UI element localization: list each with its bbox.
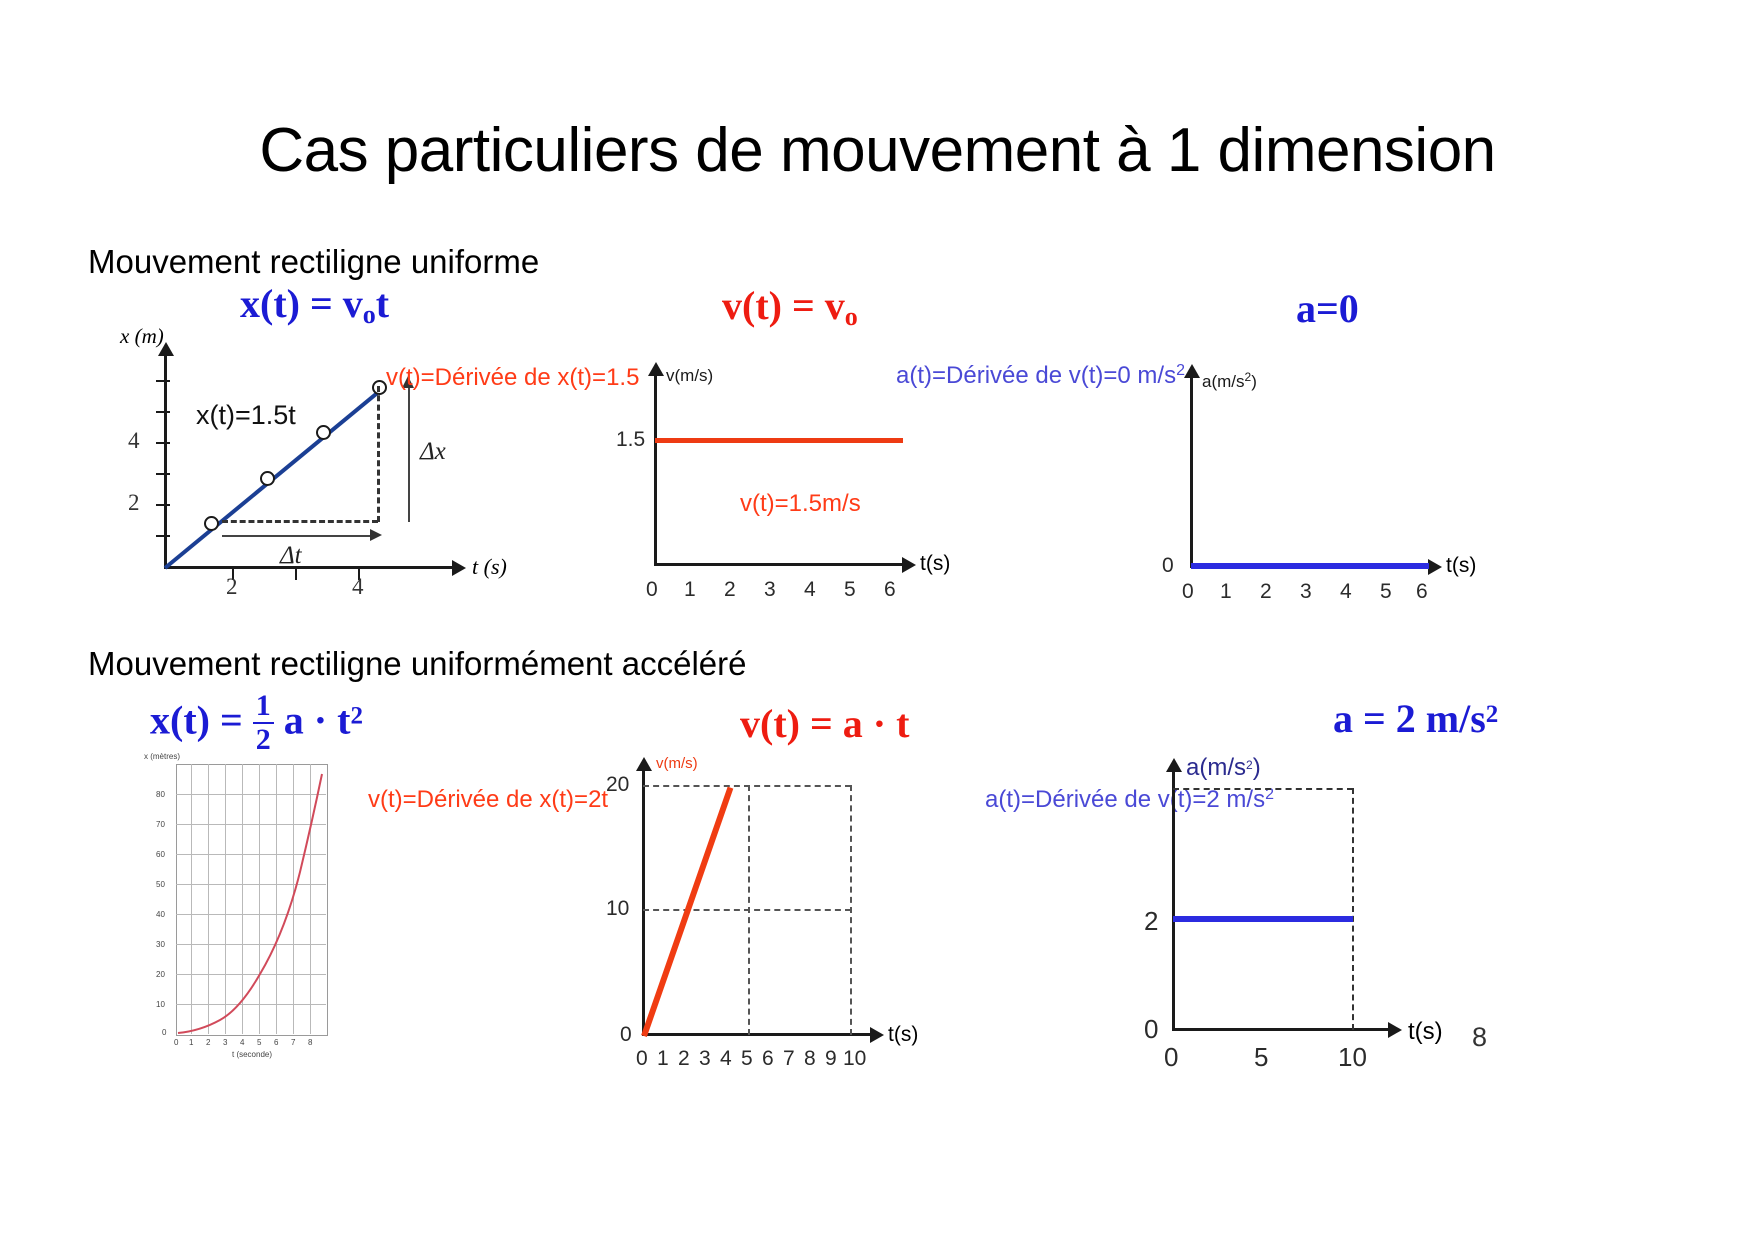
chart5-guide-v-5 bbox=[748, 785, 750, 1035]
chart1-data-point bbox=[316, 425, 331, 440]
chart1-ytick-mark bbox=[156, 411, 170, 413]
chart2-y-axis-label: v(m/s) bbox=[666, 366, 713, 386]
chart3-xtick-label: 4 bbox=[1340, 580, 1352, 604]
chart3-y-axis-label-tail: ) bbox=[1251, 372, 1257, 391]
formula-acceleration-sup: 2 bbox=[1486, 701, 1499, 728]
chart5-x-axis bbox=[642, 1033, 872, 1036]
chart2-ytick-label: 1.5 bbox=[616, 428, 645, 452]
chart5-xtick-label: 4 bbox=[720, 1047, 732, 1071]
chart5-ytick-label: 20 bbox=[606, 773, 629, 797]
formula-fraction-numerator: 1 bbox=[253, 690, 274, 724]
chart-acceleration-zero: a(m/s2) t(s) 0 0 1 2 3 4 5 6 bbox=[1188, 360, 1488, 600]
chart4-xtick-label: 7 bbox=[291, 1038, 295, 1047]
chart4-curve bbox=[140, 752, 350, 1072]
annotation-derivative-x-uniform: v(t)=Dérivée de x(t)=1.5 bbox=[386, 364, 639, 392]
chart4-ytick-label: 40 bbox=[156, 910, 165, 919]
annotation-derivative-v-text: a(t)=Dérivée de v(t)=0 m/s bbox=[896, 362, 1176, 389]
chart2-x-axis bbox=[654, 563, 904, 566]
chart5-xtick-label: 9 bbox=[825, 1047, 837, 1071]
formula-position-acc-tail: a · t bbox=[284, 698, 351, 743]
section-heading-accelerated: Mouvement rectiligne uniformément accélé… bbox=[88, 645, 746, 683]
page-number: 8 bbox=[1472, 1022, 1487, 1053]
chart5-y-axis bbox=[642, 771, 645, 1036]
chart5-ytick-label: 10 bbox=[606, 897, 629, 921]
chart5-xtick-label: 10 bbox=[843, 1047, 866, 1071]
chart1-x-axis bbox=[164, 566, 454, 569]
formula-velocity-accelerated: v(t) = a · t bbox=[740, 700, 909, 747]
chart1-ytick-mark bbox=[156, 473, 170, 475]
chart4-ytick-label: 20 bbox=[156, 970, 165, 979]
chart4-ytick-label: 80 bbox=[156, 790, 165, 799]
chart2-x-axis-label: t(s) bbox=[920, 552, 950, 576]
annotation-derivative-v-uniform: a(t)=Dérivée de v(t)=0 m/s2 bbox=[896, 362, 1185, 390]
chart6-y-axis-label-tail: ) bbox=[1253, 754, 1261, 781]
chart-acceleration-constant: a(m/s2) t(s) 2 0 0 5 10 bbox=[1170, 750, 1500, 1070]
chart6-x-axis bbox=[1172, 1028, 1390, 1031]
chart4-ytick-label: 70 bbox=[156, 820, 165, 829]
chart2-x-axis-arrow bbox=[902, 557, 916, 573]
chart6-xtick-label: 5 bbox=[1254, 1042, 1268, 1073]
chart3-y-axis-label: a(m/s2) bbox=[1202, 370, 1257, 392]
chart4-xtick-label: 6 bbox=[274, 1038, 278, 1047]
chart5-xtick-label: 6 bbox=[762, 1047, 774, 1071]
chart4-ytick-label: 50 bbox=[156, 880, 165, 889]
chart6-y-axis-label-sup: 2 bbox=[1246, 758, 1253, 772]
chart2-xtick-label: 4 bbox=[804, 578, 816, 602]
section-heading-uniform: Mouvement rectiligne uniforme bbox=[88, 243, 539, 281]
chart5-xtick-label: 3 bbox=[699, 1047, 711, 1071]
chart2-xtick-label: 5 bbox=[844, 578, 856, 602]
chart5-guide-h-20 bbox=[643, 785, 851, 787]
chart2-xtick-label: 3 bbox=[764, 578, 776, 602]
chart1-x-axis-arrow bbox=[452, 560, 466, 576]
chart4-xtick-label: 5 bbox=[257, 1038, 261, 1047]
chart6-y-axis bbox=[1172, 772, 1175, 1030]
chart2-xtick-label: 1 bbox=[684, 578, 696, 602]
chart1-ytick-mark bbox=[156, 535, 170, 537]
chart6-y-axis-label: a(m/s2) bbox=[1186, 754, 1261, 782]
chart5-xtick-label: 2 bbox=[678, 1047, 690, 1071]
chart3-xtick-label: 5 bbox=[1380, 580, 1392, 604]
chart2-y-axis bbox=[654, 376, 657, 566]
chart2-xtick-label: 0 bbox=[646, 578, 658, 602]
chart4-ytick-label: 30 bbox=[156, 940, 165, 949]
chart3-xtick-label: 3 bbox=[1300, 580, 1312, 604]
chart5-xtick-label: 8 bbox=[804, 1047, 816, 1071]
chart4-xtick-label: 0 bbox=[174, 1038, 178, 1047]
chart6-xtick-label: 10 bbox=[1338, 1042, 1367, 1073]
chart3-x-axis-arrow bbox=[1428, 559, 1442, 575]
chart1-xtick-label: 4 bbox=[352, 574, 364, 600]
chart1-delta-t-arrow-head bbox=[370, 529, 382, 541]
annotation-derivative-x-accelerated: v(t)=Dérivée de x(t)=2t bbox=[368, 786, 608, 814]
formula-acceleration-zero: a=0 bbox=[1296, 285, 1359, 332]
slide-root: Cas particuliers de mouvement à 1 dimens… bbox=[0, 0, 1755, 1240]
chart1-ytick-mark bbox=[156, 504, 170, 506]
chart1-data-point bbox=[260, 471, 275, 486]
chart1-equation-label: x(t)=1.5t bbox=[196, 400, 296, 431]
chart-velocity-accelerated: v(m/s) t(s) 20 10 0 0 1 2 3 4 5 6 7 8 9 … bbox=[640, 755, 970, 1075]
formula-velocity-sub: o bbox=[845, 302, 858, 331]
chart1-delta-x-label: Δx bbox=[420, 438, 446, 466]
chart5-guide-h-10 bbox=[643, 909, 851, 911]
chart2-y-axis-arrow bbox=[648, 362, 664, 376]
chart1-delta-x-guide-h bbox=[222, 520, 378, 523]
chart3-x-axis-label: t(s) bbox=[1446, 554, 1476, 578]
chart6-acceleration-line bbox=[1173, 916, 1353, 922]
chart3-xtick-label: 0 bbox=[1182, 580, 1194, 604]
chart-position-accelerated: x (mètres) 80 70 60 50 40 30 20 10 0 0 bbox=[140, 752, 350, 1072]
chart3-xtick-label: 6 bbox=[1416, 580, 1428, 604]
chart5-x-axis-arrow bbox=[870, 1027, 884, 1043]
page-title: Cas particuliers de mouvement à 1 dimens… bbox=[0, 115, 1755, 186]
chart1-x-axis-label: t (s) bbox=[472, 554, 507, 580]
chart5-x-axis-label: t(s) bbox=[888, 1023, 918, 1047]
formula-position-acc-sup: 2 bbox=[350, 703, 363, 730]
chart5-xtick-label: 7 bbox=[783, 1047, 795, 1071]
chart3-y-axis-arrow bbox=[1184, 364, 1200, 378]
chart2-xtick-label: 6 bbox=[884, 578, 896, 602]
chart1-ytick-mark bbox=[156, 442, 170, 444]
chart1-ytick-mark bbox=[156, 380, 170, 382]
chart-velocity-uniform: v(m/s) t(s) 1.5 0 1 2 3 4 5 6 bbox=[652, 360, 972, 600]
chart4-xtick-label: 2 bbox=[206, 1038, 210, 1047]
formula-velocity-uniform: v(t) = vo bbox=[722, 282, 858, 332]
chart4-x-axis-label: t (seconde) bbox=[232, 1050, 272, 1059]
chart1-ytick-label: 4 bbox=[128, 428, 140, 454]
formula-fraction-denominator: 2 bbox=[253, 724, 274, 756]
chart-position-uniform: x (m) t (s) 4 2 2 4 bbox=[120, 320, 510, 590]
chart6-ytick-label: 0 bbox=[1144, 1014, 1158, 1045]
chart5-velocity-line bbox=[641, 787, 733, 1037]
chart1-ytick-label: 2 bbox=[128, 490, 140, 516]
chart6-xtick-label: 0 bbox=[1164, 1042, 1178, 1073]
chart1-data-point bbox=[204, 516, 219, 531]
chart1-y-axis-arrow bbox=[158, 342, 174, 356]
formula-position-acc-head: x(t) = bbox=[150, 698, 243, 743]
chart5-xtick-label: 0 bbox=[636, 1047, 648, 1071]
chart3-ytick-label: 0 bbox=[1162, 554, 1174, 578]
chart1-xtick-label: 2 bbox=[226, 574, 238, 600]
chart4-xtick-label: 1 bbox=[189, 1038, 193, 1047]
formula-position-acc-fraction: 1 2 bbox=[253, 690, 274, 755]
chart5-guide-v-10 bbox=[850, 785, 852, 1035]
chart6-x-axis-label: t(s) bbox=[1408, 1018, 1443, 1046]
chart3-xtick-label: 2 bbox=[1260, 580, 1272, 604]
chart1-delta-x-arrow-line bbox=[408, 386, 410, 522]
chart5-xtick-label: 1 bbox=[657, 1047, 669, 1071]
chart2-xtick-label: 2 bbox=[724, 578, 736, 602]
chart6-guide-h-top bbox=[1173, 788, 1353, 790]
chart6-guide-v-10 bbox=[1352, 788, 1354, 1030]
chart4-xtick-label: 8 bbox=[308, 1038, 312, 1047]
chart3-xtick-label: 1 bbox=[1220, 580, 1232, 604]
chart5-y-axis-arrow bbox=[636, 757, 652, 771]
chart6-ytick-label: 2 bbox=[1144, 906, 1158, 937]
chart4-ytick-label: 0 bbox=[162, 1028, 166, 1037]
chart3-y-axis bbox=[1190, 378, 1193, 568]
chart1-delta-t-arrow-line bbox=[222, 535, 372, 537]
chart4-ytick-label: 60 bbox=[156, 850, 165, 859]
chart5-xtick-label: 5 bbox=[741, 1047, 753, 1071]
formula-acceleration-constant: a = 2 m/s2 bbox=[1333, 695, 1498, 742]
chart4-ytick-label: 10 bbox=[156, 1000, 165, 1009]
chart1-delta-x-guide-v bbox=[377, 386, 380, 522]
chart3-y-axis-label-text: a(m/s bbox=[1202, 372, 1245, 391]
formula-acceleration-main: a = 2 m/s bbox=[1333, 696, 1486, 741]
formula-position-accelerated: x(t) = 1 2 a · t2 bbox=[150, 692, 363, 757]
formula-velocity-main: v(t) = v bbox=[722, 283, 845, 328]
chart6-y-axis-label-text: a(m/s bbox=[1186, 754, 1246, 781]
chart2-equation-label: v(t)=1.5m/s bbox=[740, 490, 861, 518]
chart6-y-axis-arrow bbox=[1166, 758, 1182, 772]
chart5-y-axis-label: v(m/s) bbox=[656, 755, 698, 772]
chart5-ytick-label: 0 bbox=[620, 1023, 632, 1047]
chart3-acceleration-line bbox=[1191, 563, 1429, 569]
chart6-x-axis-arrow bbox=[1388, 1022, 1402, 1038]
chart4-xtick-label: 3 bbox=[223, 1038, 227, 1047]
chart2-velocity-line bbox=[655, 438, 903, 443]
chart4-xtick-label: 4 bbox=[240, 1038, 244, 1047]
chart1-delta-t-label: Δt bbox=[280, 542, 302, 570]
